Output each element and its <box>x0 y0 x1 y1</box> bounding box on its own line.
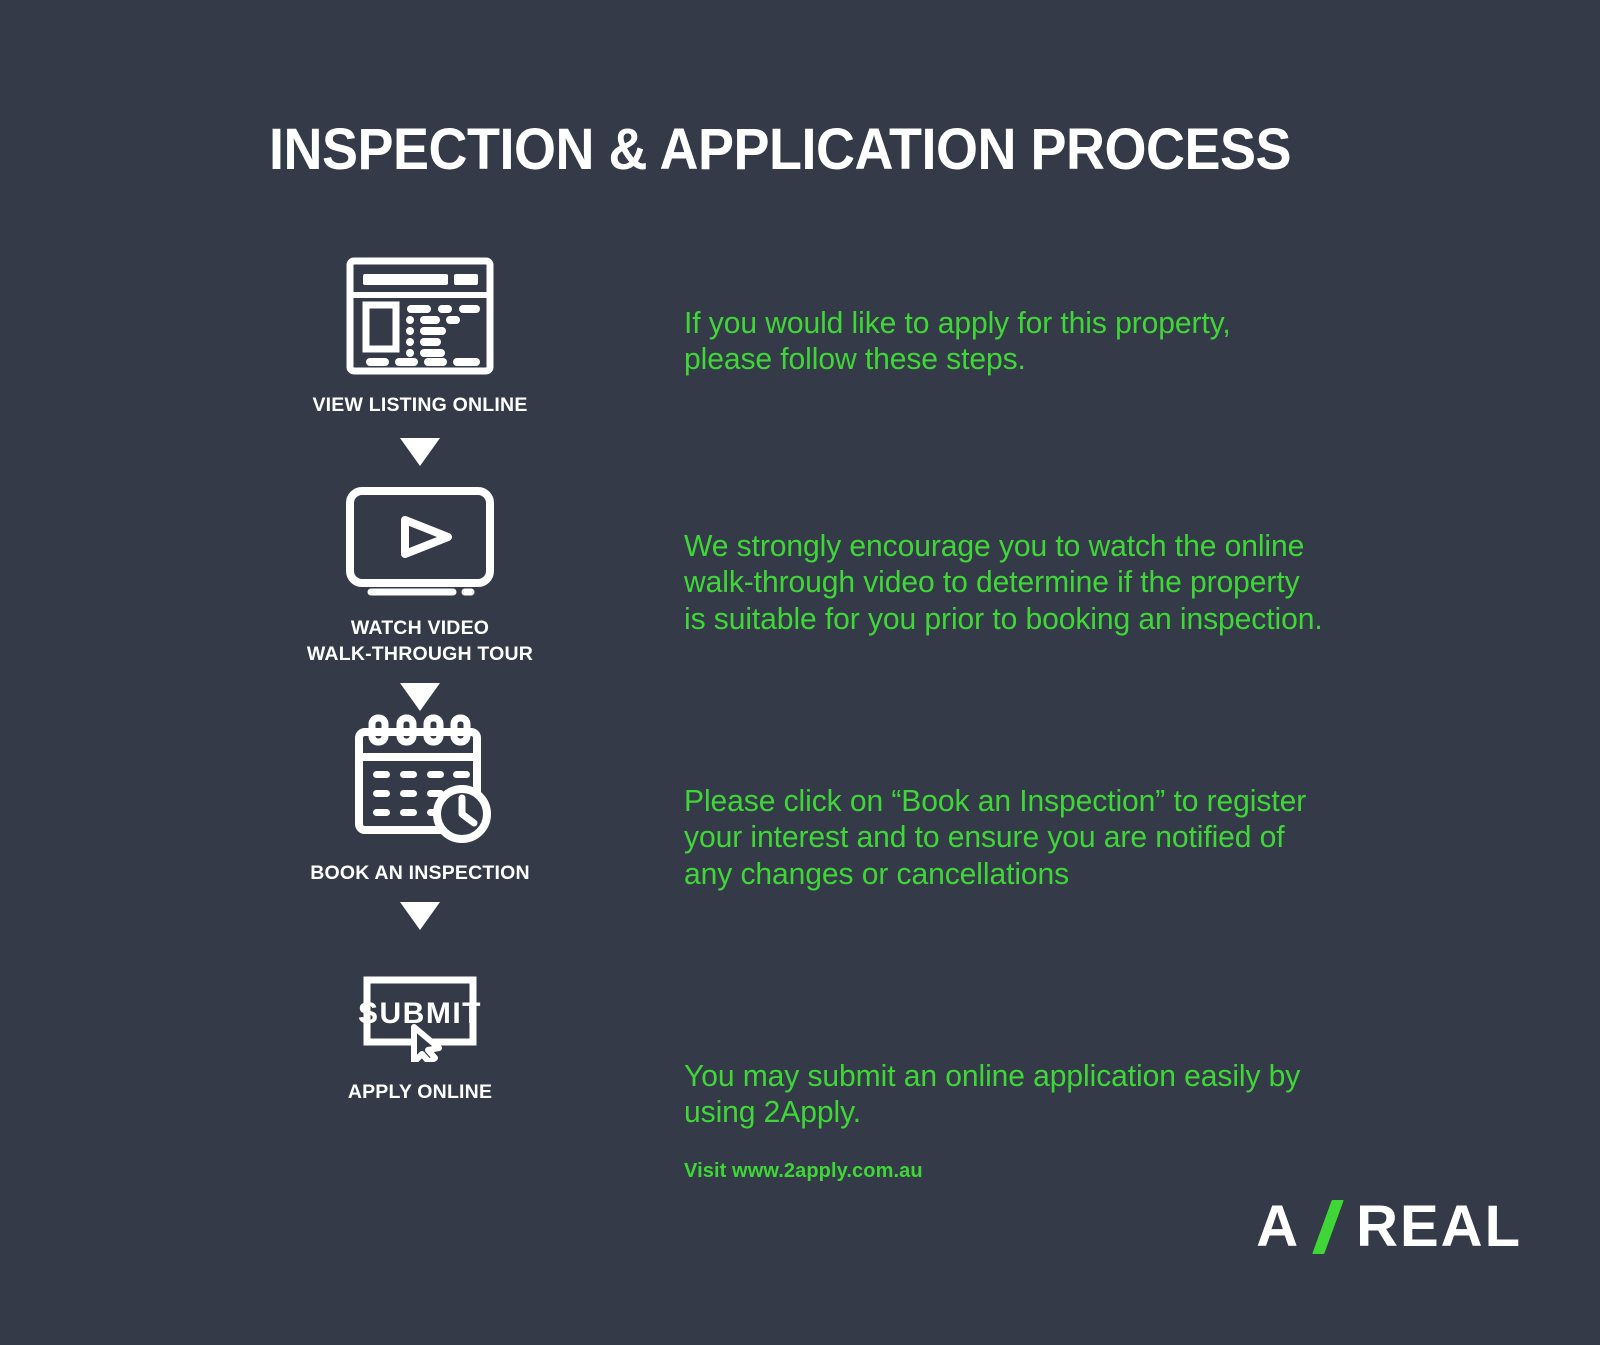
browser-listing-icon <box>255 255 585 375</box>
copy-watch-video: We strongly encourage you to watch the o… <box>684 528 1323 637</box>
video-play-screen-icon <box>255 478 585 598</box>
calendar-clock-icon <box>255 723 585 843</box>
slash-icon <box>1310 1200 1350 1254</box>
step-label-view-listing-online: VIEW LISTING ONLINE <box>255 393 585 418</box>
down-arrow-separator <box>255 438 585 466</box>
step-label-book-inspection: BOOK AN INSPECTION <box>255 861 585 886</box>
logo-letter-a: A <box>1256 1198 1300 1256</box>
copy-book-inspection: Please click on “Book an Inspection” to … <box>684 783 1306 892</box>
page-title: INSPECTION & APPLICATION PROCESS <box>55 118 1506 182</box>
step-label-apply-online: APPLY ONLINE <box>255 1080 585 1105</box>
areal-logo: A REAL <box>1256 1196 1522 1258</box>
step-label-watch-video: WATCH VIDEO WALK-THROUGH TOUR <box>255 616 585 667</box>
step-view-listing-online: VIEW LISTING ONLINE <box>255 255 585 418</box>
copy-view-listing: If you would like to apply for this prop… <box>684 305 1231 378</box>
logo-word-real: REAL <box>1356 1198 1522 1256</box>
infographic-page: INSPECTION & APPLICATION PROCESS <box>0 0 1600 1345</box>
copy-apply-online: You may submit an online application eas… <box>684 1058 1300 1131</box>
down-arrow-separator <box>255 902 585 930</box>
step-book-inspection: BOOK AN INSPECTION <box>255 723 585 886</box>
visit-url-link[interactable]: Visit www.2apply.com.au <box>684 1160 923 1183</box>
process-flow-column: VIEW LISTING ONLINE WATCH VIDEO WALK-THR… <box>255 255 585 1106</box>
step-watch-video: WATCH VIDEO WALK-THROUGH TOUR <box>255 478 585 667</box>
submit-button-cursor-icon: SUBMIT <box>255 942 585 1062</box>
svg-text:SUBMIT: SUBMIT <box>358 997 482 1030</box>
step-apply-online: SUBMIT APPLY ONLINE <box>255 942 585 1105</box>
down-arrow-separator <box>255 683 585 711</box>
